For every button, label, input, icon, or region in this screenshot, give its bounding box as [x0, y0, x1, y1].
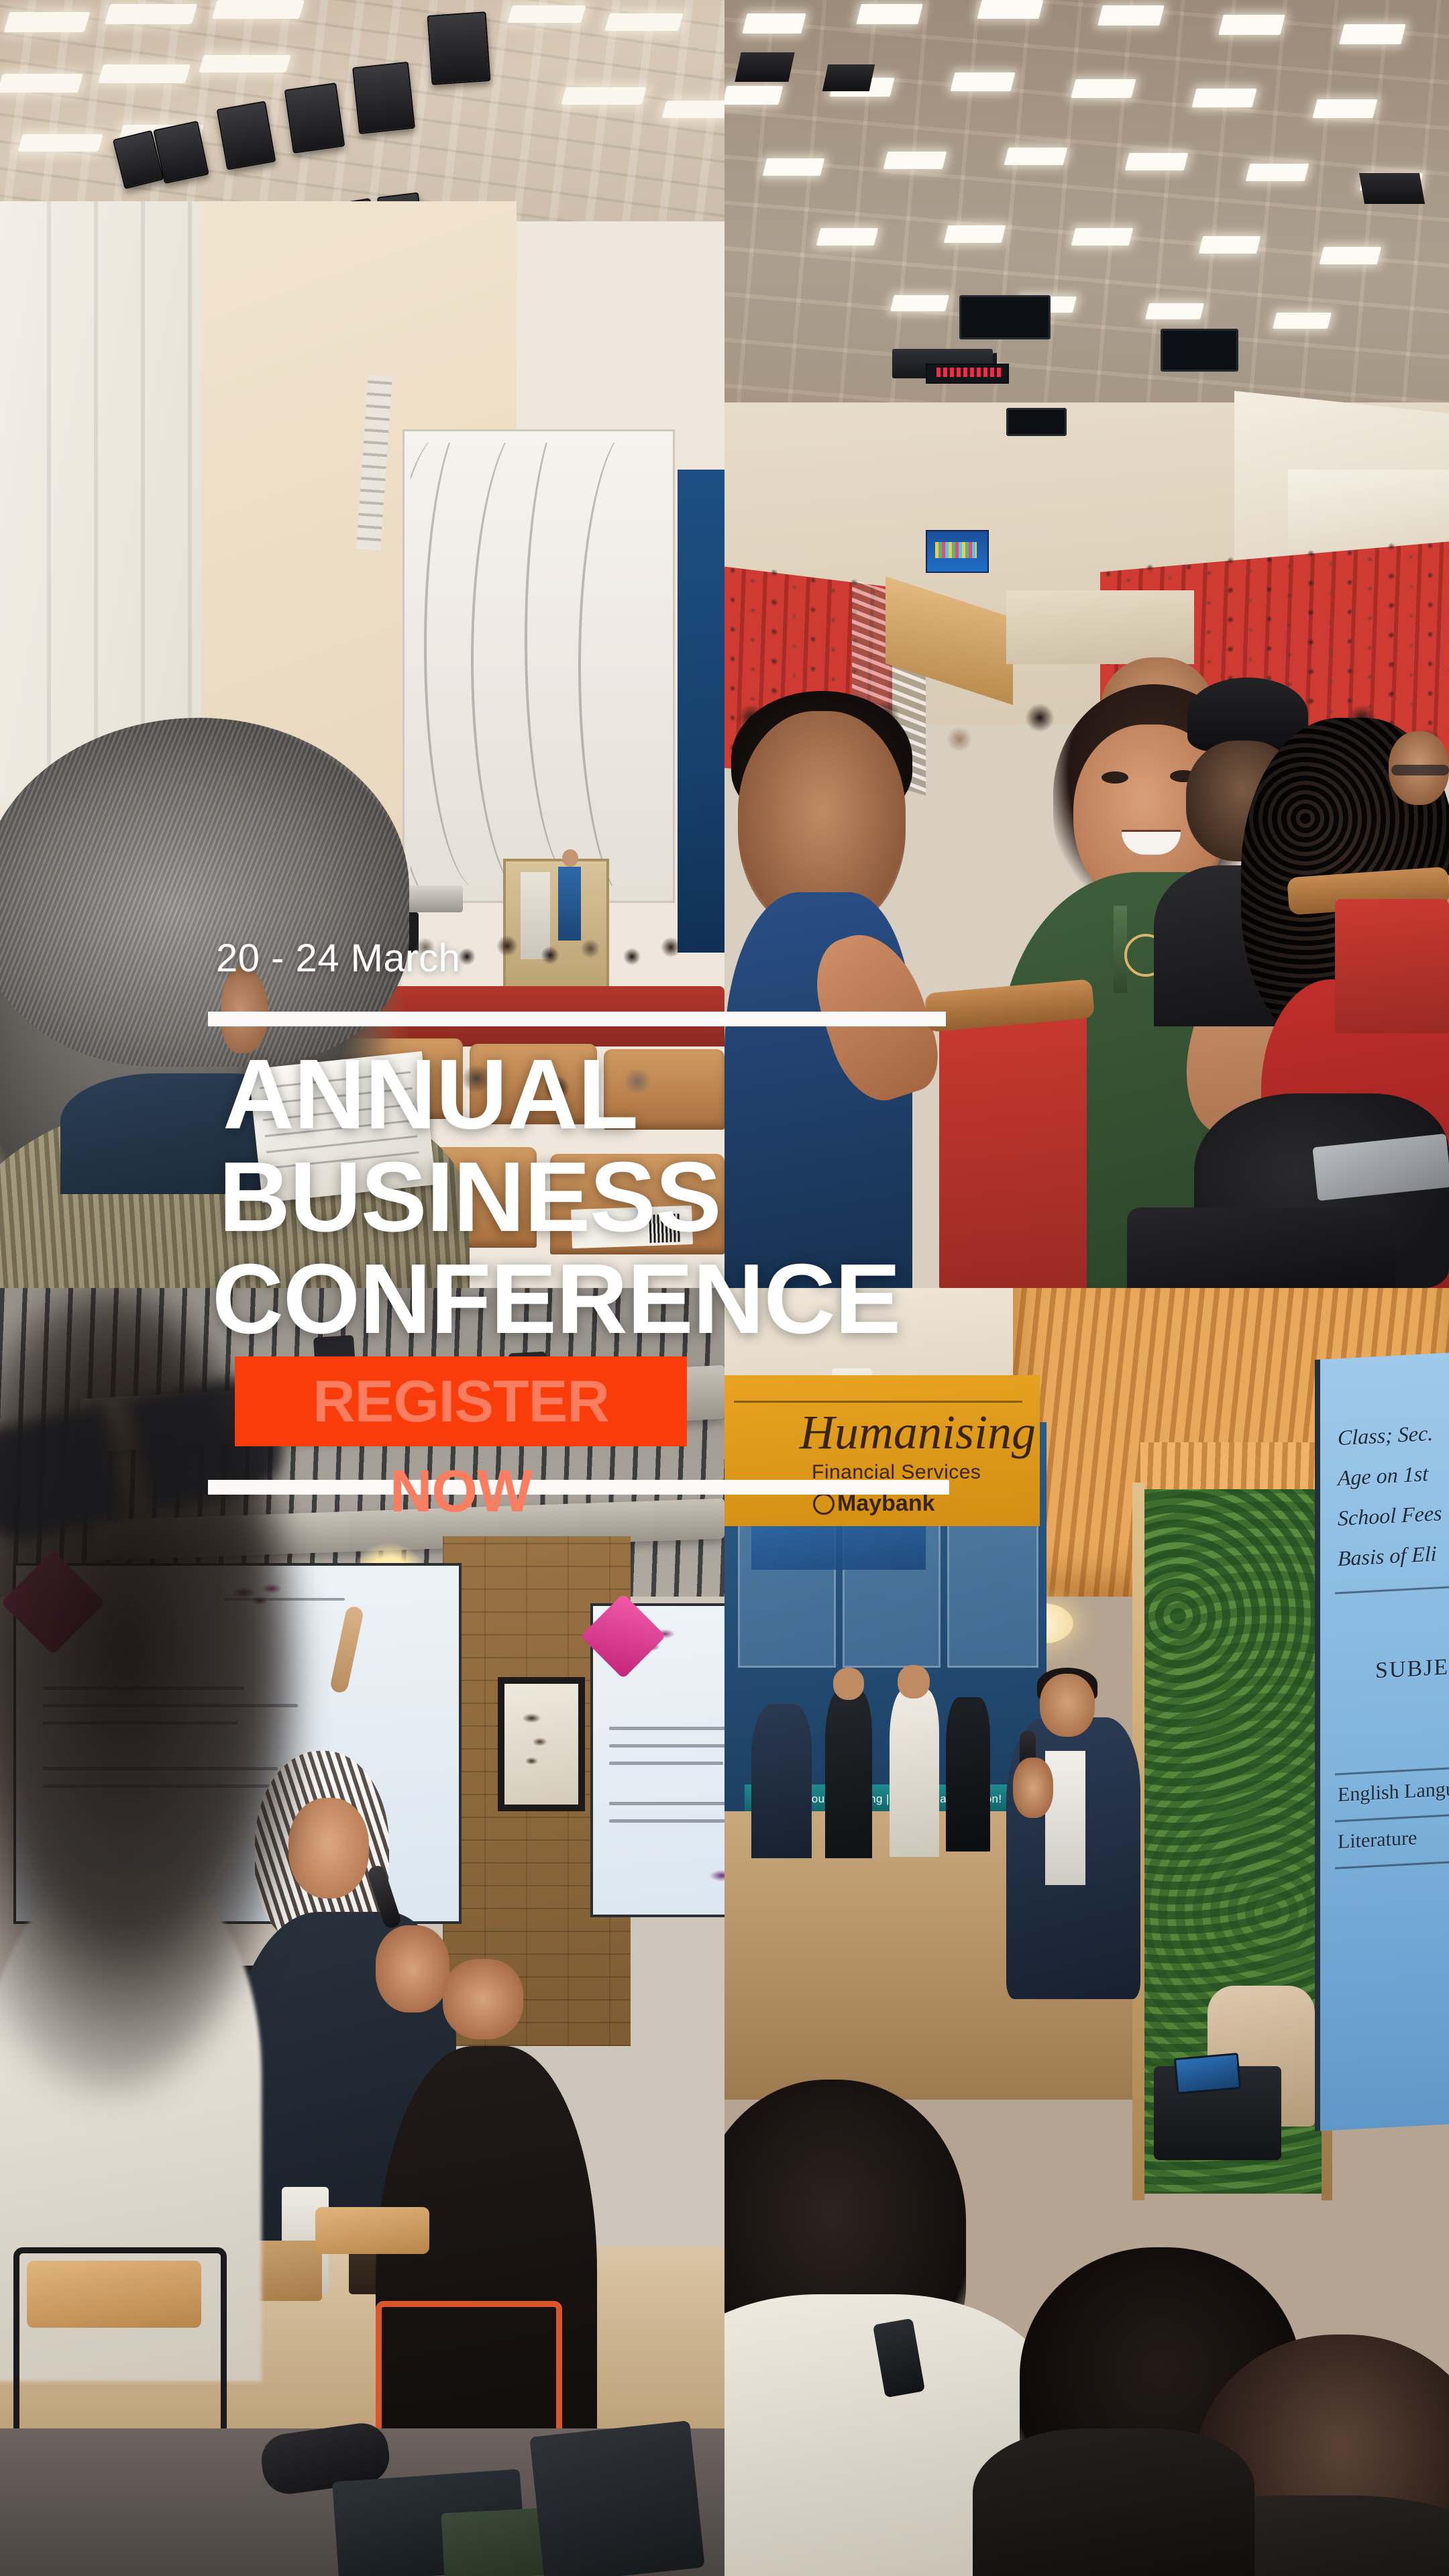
maybank-brand-text: Maybank	[837, 1491, 935, 1517]
screen-line-4: Basis of Eli	[1338, 1542, 1437, 1572]
screen-line-3: School Fees	[1338, 1501, 1442, 1531]
presentation-screen: Class; Sec. Age on 1st School Fees Basis…	[1315, 1350, 1449, 2131]
poster-canvas: Humanising Financial Services Maybank Th…	[0, 0, 1449, 2576]
title-line-annual: ANNUAL	[223, 1048, 953, 1142]
title-line-conference: CONFERENCE	[212, 1252, 953, 1347]
title-line-business: BUSINESS	[219, 1150, 953, 1245]
screen-line-7: Literature	[1338, 1827, 1417, 1854]
screen-line-1: Class; Sec.	[1338, 1421, 1433, 1450]
divider-rule-bottom	[208, 1480, 949, 1495]
event-date-range: 20 - 24 March	[216, 939, 953, 978]
page-title: ANNUAL BUSINESS CONFERENCE	[208, 1048, 953, 1347]
screen-line-5: SUBJEC	[1375, 1654, 1449, 1684]
screen-line-2: Age on 1st	[1338, 1461, 1428, 1491]
register-now-button[interactable]: REGISTER NOW	[235, 1356, 687, 1446]
divider-rule-top	[208, 1012, 946, 1026]
screen-line-6: English Languag	[1338, 1777, 1449, 1807]
maybank-logo-icon	[813, 1493, 835, 1515]
